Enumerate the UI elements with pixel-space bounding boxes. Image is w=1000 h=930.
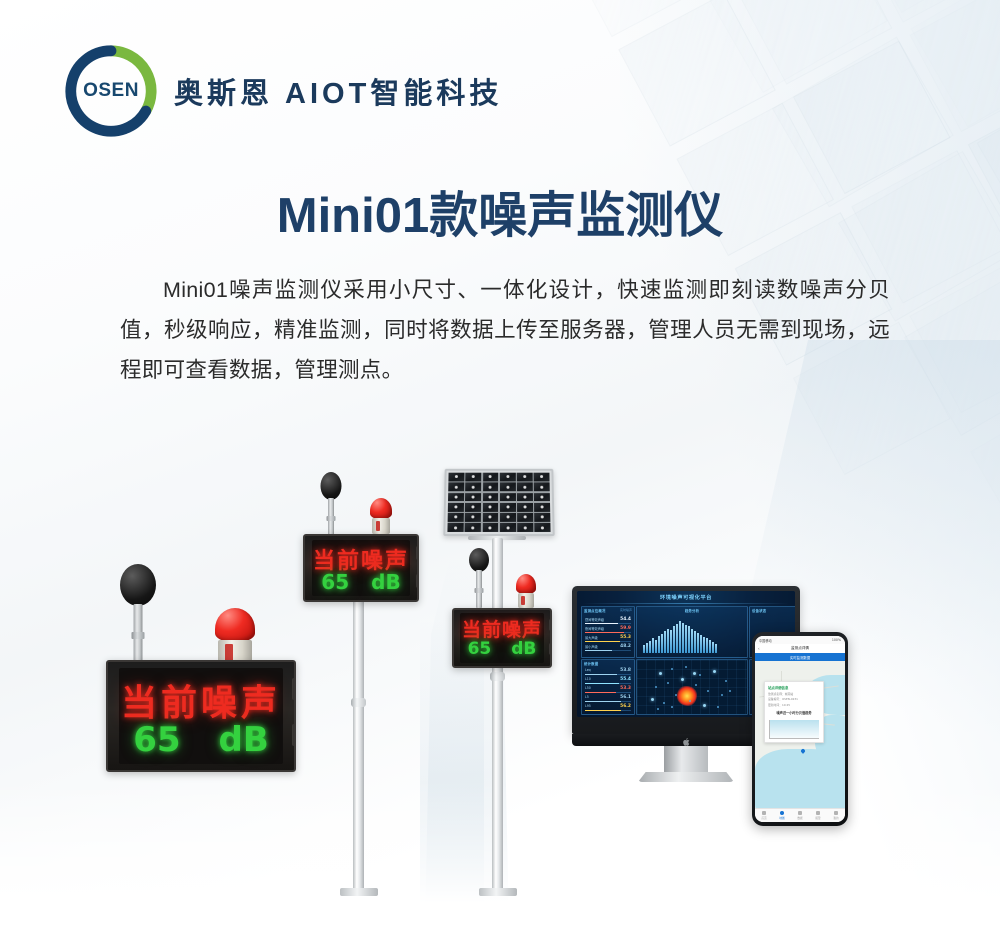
solar-cell — [500, 483, 516, 492]
brand-header: OSEN 奥斯恩 AIOT智能科技 — [62, 42, 502, 140]
phone-tab-报警[interactable]: 报警 — [809, 809, 827, 822]
phone-tab-地图[interactable]: 地图 — [773, 809, 791, 822]
map-station-marker[interactable] — [689, 700, 691, 702]
map-station-marker[interactable] — [721, 694, 723, 696]
solar-cell — [534, 483, 550, 492]
metric-value: 55.4 — [620, 677, 631, 682]
map-station-marker[interactable] — [729, 690, 731, 692]
beacon-label-strip — [521, 596, 525, 605]
map-pin-icon — [780, 811, 784, 815]
info-card-line-3: 更新时间：10:25 — [768, 703, 820, 707]
trend-bar — [700, 635, 702, 653]
info-card-line-1: 监测点名称：城南站 — [768, 692, 820, 696]
solar-cell — [517, 473, 533, 481]
trend-bar — [712, 642, 714, 653]
trend-bar — [667, 629, 669, 653]
led-value: 65 — [468, 639, 492, 659]
trend-bar — [652, 638, 654, 653]
phone-primary-tab[interactable]: 实时监测数据 — [755, 653, 845, 661]
osen-ring-logo: OSEN — [62, 42, 160, 140]
solar-cell — [500, 503, 516, 512]
trend-bar — [643, 645, 645, 654]
logo-wordmark: OSEN — [83, 80, 139, 102]
trend-bar — [658, 636, 660, 653]
led-panel-surface: 当前噪声 65 dB — [460, 613, 545, 662]
trend-bar — [676, 624, 678, 653]
info-card-title: 站点详细信息 — [768, 685, 820, 690]
solar-cell — [535, 523, 551, 532]
phone-bottom-tab-bar: 首页地图数据报警我的 — [755, 808, 845, 822]
metric-value: 53.3 — [620, 686, 631, 691]
map-station-marker[interactable] — [713, 670, 716, 673]
solar-cell — [534, 473, 550, 481]
beacon-dome-icon — [215, 608, 255, 642]
trend-bar — [649, 641, 651, 653]
phone-screen[interactable]: 中国移动 100% ‹ 监测点详情 实时监测数据 — [755, 636, 845, 822]
solar-cell — [448, 483, 464, 492]
panel-noise-map[interactable] — [636, 659, 748, 715]
led-display-board: 当前噪声 65 dB — [106, 660, 296, 772]
metric-label: L95 — [585, 704, 591, 708]
map-station-marker[interactable] — [671, 668, 673, 670]
solar-cell — [465, 493, 481, 502]
map-station-marker[interactable] — [675, 694, 677, 696]
panel-left-top-subtitle: 实时噪声 — [620, 608, 632, 612]
map-station-marker[interactable] — [717, 706, 719, 708]
solar-cell — [483, 493, 499, 502]
solar-cell — [448, 473, 464, 481]
status-carrier: 中国移动 — [759, 638, 772, 643]
solar-cell — [517, 523, 533, 532]
status-battery: 100% — [832, 638, 841, 642]
back-arrow-icon[interactable]: ‹ — [758, 646, 760, 651]
solar-cell — [483, 483, 499, 492]
alarm-beacon — [215, 608, 255, 666]
microphone-windscreen-icon — [321, 472, 342, 500]
map-station-marker[interactable] — [667, 682, 669, 684]
metric-bar — [585, 701, 631, 702]
metric-value: 56.2 — [620, 704, 631, 709]
info-card-line-2: 设备编号：OSEN-0231 — [768, 697, 820, 701]
board-side-lug-top — [292, 678, 296, 700]
mobile-phone: 中国移动 100% ‹ 监测点详情 实时监测数据 — [752, 632, 848, 826]
brand-name: 奥斯恩 AIOT智能科技 — [174, 70, 502, 112]
pole-joint — [351, 698, 366, 707]
bell-icon — [816, 811, 820, 815]
panel-left-bottom[interactable]: 统计数据 Leq53.8L1055.4L5053.3L556.1L9556.2 — [581, 659, 635, 715]
dashboard-metric-row: 最大声级55.3 — [585, 635, 631, 642]
trend-bar — [670, 630, 672, 653]
metric-bar — [585, 632, 631, 633]
user-icon — [834, 811, 838, 815]
noise-heatmap-hotspot — [677, 686, 697, 706]
metric-value: 53.8 — [620, 668, 631, 673]
solar-cell — [534, 493, 550, 502]
dashboard-metric-row: L1055.4 — [585, 677, 631, 684]
beacon-base — [372, 518, 390, 534]
map-station-marker[interactable] — [659, 672, 662, 675]
map-station-marker[interactable] — [725, 680, 727, 682]
beacon-dome-icon — [370, 498, 392, 519]
device-large-foreground: 当前噪声 65 dB — [100, 560, 300, 760]
solar-cell — [447, 523, 463, 532]
map-station-marker[interactable] — [681, 678, 684, 681]
beacon-label-strip — [376, 521, 380, 531]
solar-cell — [482, 513, 498, 522]
solar-cell — [534, 503, 550, 512]
solar-cell — [482, 523, 498, 532]
map-station-marker[interactable] — [657, 708, 659, 710]
trend-bar — [697, 633, 699, 653]
monitor-stand-foot — [638, 772, 734, 782]
metric-bar — [585, 641, 631, 642]
dashboard-metric-row: 夜间等效声级59.9 — [585, 626, 631, 633]
metric-label: 夜间等效声级 — [585, 626, 604, 631]
trend-bar — [706, 638, 708, 653]
phone-info-card[interactable]: 站点详细信息 监测点名称：城南站 设备编号：OSEN-0231 更新时间：10:… — [764, 681, 824, 743]
solar-cell — [500, 473, 516, 481]
dashboard-title: 环境噪声可视化平台 — [577, 594, 795, 601]
trend-bar — [694, 631, 696, 653]
metric-label: L10 — [585, 677, 591, 681]
solar-cell — [517, 483, 533, 492]
pole-base-plate — [479, 888, 517, 896]
solar-cell — [534, 513, 550, 522]
map-station-marker[interactable] — [685, 666, 687, 668]
map-station-marker[interactable] — [703, 704, 706, 707]
board-side-lug-bottom — [416, 574, 419, 588]
led-panel-surface: 当前噪声 65 dB — [312, 540, 411, 596]
trend-bar — [685, 625, 687, 653]
metric-value: 56.1 — [620, 695, 631, 700]
trend-bar — [715, 644, 717, 653]
device-mid-pole: 当前噪声 65 dB — [300, 470, 430, 910]
solar-cell — [465, 513, 481, 522]
phone-tab-label: 地图 — [779, 816, 784, 820]
dashboard-metric-row: Leq53.8 — [585, 668, 631, 675]
pole-joint — [490, 672, 505, 681]
microphone-collar — [475, 588, 484, 593]
solar-cell — [517, 513, 533, 522]
board-side-lug-bottom — [549, 643, 552, 655]
trend-bar — [664, 631, 666, 653]
home-icon — [762, 811, 766, 815]
apple-logo-icon — [683, 738, 690, 746]
dashboard-metric-row: L556.1 — [585, 695, 631, 702]
alarm-beacon — [516, 574, 536, 608]
led-label-text: 当前噪声 — [119, 674, 283, 726]
phone-tab-label: 实时监测数据 — [790, 655, 810, 660]
map-station-marker[interactable] — [655, 686, 657, 688]
solar-cell — [465, 483, 481, 492]
chart-icon — [798, 811, 802, 815]
pole-base-plate — [340, 888, 378, 896]
trend-bar — [679, 621, 681, 653]
map-station-marker[interactable] — [707, 690, 709, 692]
metric-bar — [585, 683, 631, 684]
solar-cell — [500, 523, 516, 532]
trend-bar — [691, 629, 693, 653]
beacon-base — [518, 593, 535, 608]
metric-label: 最大声级 — [585, 635, 598, 640]
phone-tab-label: 数据 — [797, 816, 802, 820]
led-reading: 65 dB — [312, 570, 411, 594]
map-station-marker[interactable] — [699, 674, 701, 676]
solar-cell — [517, 503, 533, 512]
led-display-board: 当前噪声 65 dB — [452, 608, 552, 668]
microphone-assembly — [118, 560, 158, 660]
microphone-collar — [327, 516, 336, 521]
metric-label: L50 — [585, 686, 591, 690]
phone-nav-title: 监测点详情 — [791, 646, 809, 651]
map-station-marker[interactable] — [695, 684, 697, 686]
metric-bar — [585, 674, 631, 675]
mounting-pole — [353, 590, 364, 890]
map-station-marker[interactable] — [671, 706, 673, 708]
trend-bar — [673, 626, 675, 653]
trend-chart-bars — [643, 619, 741, 653]
led-reading: 65 dB — [119, 720, 283, 760]
led-reading: 65 dB — [460, 639, 545, 659]
phone-tab-label: 我的 — [833, 816, 838, 820]
dashboard-metric-row: 最小声级48.2 — [585, 644, 631, 651]
info-card-chart-caption: 噪声近一小时分贝值趋势 — [768, 710, 820, 715]
monitor-stand-neck — [664, 746, 708, 772]
metric-bar — [585, 692, 631, 693]
metric-label: Leq — [585, 668, 591, 672]
led-unit: dB — [511, 639, 536, 659]
board-side-lug-bottom — [292, 724, 296, 746]
solar-cell — [465, 523, 481, 532]
solar-cell — [482, 503, 498, 512]
beacon-dome-icon — [516, 574, 536, 594]
board-side-lug-top — [416, 546, 419, 560]
phone-status-bar: 中国移动 100% — [755, 636, 845, 644]
phone-body: 中国移动 100% ‹ 监测点详情 实时监测数据 — [752, 632, 848, 826]
led-display-board: 当前噪声 65 dB — [303, 534, 419, 602]
phone-tab-label: 报警 — [815, 816, 820, 820]
metric-label: 最小声级 — [585, 644, 598, 649]
metric-value: 59.9 — [620, 626, 631, 631]
metric-label: L5 — [585, 695, 589, 699]
panel-left-top[interactable]: 监测点位概况 实时噪声 昼间等效声级54.4夜间等效声级59.9最大声级55.3… — [581, 606, 635, 658]
map-station-marker[interactable] — [651, 698, 654, 701]
metric-value: 54.4 — [620, 617, 631, 622]
microphone-collar — [132, 632, 145, 639]
solar-cell — [466, 473, 482, 481]
solar-cell — [500, 493, 516, 502]
hero-paragraph: Mini01噪声监测仪采用小尺寸、一体化设计，快速监测即刻读数噪声分贝值，秒级响… — [120, 270, 890, 390]
trend-bar — [688, 626, 690, 653]
led-value: 65 — [321, 570, 349, 594]
dashboard-metric-row: L5053.3 — [585, 686, 631, 693]
alarm-beacon — [370, 498, 392, 534]
solar-panel — [443, 469, 554, 536]
trend-bar — [703, 637, 705, 653]
trend-bar — [709, 640, 711, 653]
page-title: Mini01款噪声监测仪 — [0, 176, 1000, 247]
trend-bar — [682, 623, 684, 653]
solar-cell — [517, 493, 533, 502]
phone-tab-label: 首页 — [761, 816, 766, 820]
led-unit: dB — [219, 720, 269, 760]
phone-tab-我的[interactable]: 我的 — [827, 809, 845, 822]
metric-label: 昼间等效声级 — [585, 617, 604, 622]
led-value: 65 — [133, 720, 180, 760]
poster-page: OSEN 奥斯恩 AIOT智能科技 Mini01款噪声监测仪 Mini01噪声监… — [0, 0, 1000, 930]
solar-cell — [465, 503, 481, 512]
solar-cell — [448, 513, 464, 522]
dashboard-metric-row: 昼间等效声级54.4 — [585, 617, 631, 624]
trend-bar — [655, 640, 657, 653]
microphone-windscreen-icon — [120, 564, 156, 606]
map-station-marker[interactable] — [693, 672, 696, 675]
metric-bar — [585, 623, 631, 624]
phone-tab-首页[interactable]: 首页 — [755, 809, 773, 822]
phone-map-view[interactable]: 站点详细信息 监测点名称：城南站 设备编号：OSEN-0231 更新时间：10:… — [755, 661, 845, 809]
panel-trend-chart[interactable]: 趋势分析 — [636, 606, 748, 658]
solar-cell-grid — [447, 473, 550, 532]
led-unit: dB — [371, 570, 401, 594]
microphone-assembly — [464, 546, 494, 608]
dashboard-title-underline — [583, 603, 789, 604]
panel-right-top-title: 设备状态 — [752, 608, 766, 613]
metric-bar — [585, 710, 631, 711]
solar-cell — [500, 513, 516, 522]
metric-value: 48.2 — [620, 644, 631, 649]
panel-left-top-title: 监测点位概况 — [584, 608, 606, 613]
info-card-trend-chart — [769, 720, 819, 739]
device-solar-pole: 当前噪声 65 dB — [440, 468, 570, 908]
metric-bar — [585, 650, 631, 651]
phone-tab-数据[interactable]: 数据 — [791, 809, 809, 822]
microphone-assembly — [316, 470, 346, 536]
trend-bar — [646, 643, 648, 653]
dashboard-metric-row: L9556.2 — [585, 704, 631, 711]
board-side-lug-top — [549, 619, 552, 631]
led-panel-surface: 当前噪声 65 dB — [119, 668, 283, 763]
trend-chart-title: 趋势分析 — [685, 608, 699, 613]
microphone-windscreen-icon — [469, 548, 489, 572]
trend-bar — [661, 634, 663, 653]
solar-cell — [483, 473, 499, 481]
metric-value: 55.3 — [620, 635, 631, 640]
map-station-marker[interactable] — [663, 702, 665, 704]
solar-cell — [448, 493, 464, 502]
panel-left-bottom-title: 统计数据 — [584, 661, 598, 666]
solar-cell — [448, 503, 464, 512]
